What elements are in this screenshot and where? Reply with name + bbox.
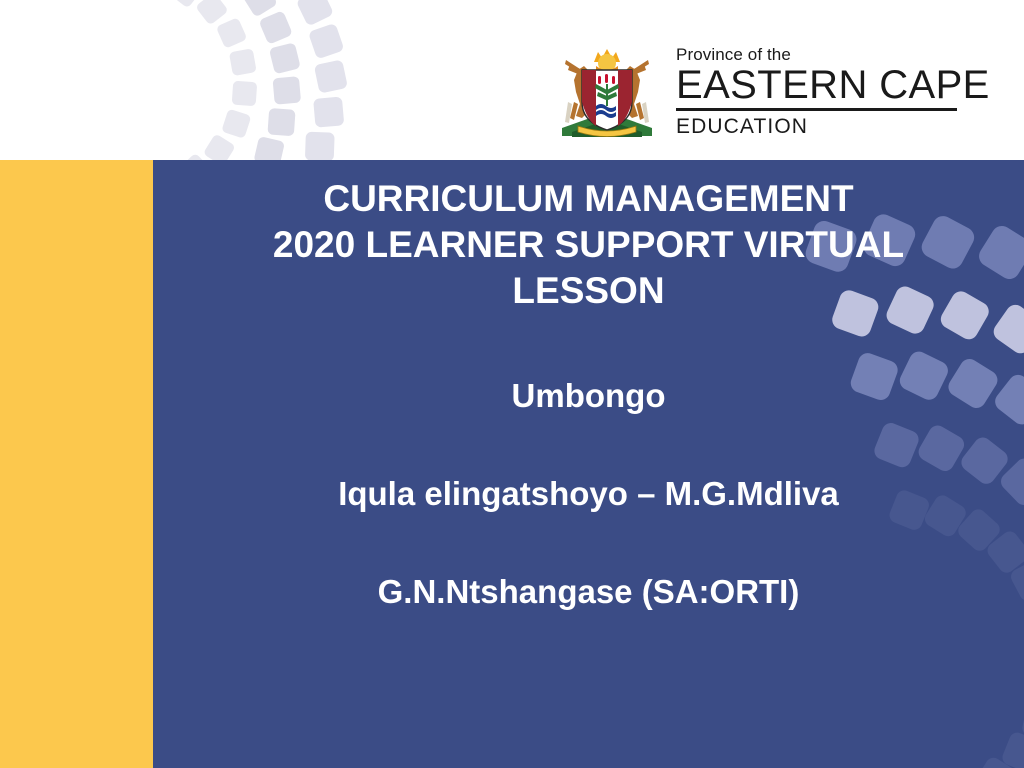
spacer-3 <box>153 514 1024 572</box>
eastern-cape-coat-of-arms-icon <box>548 40 666 144</box>
subtitle-line-topic: Umbongo <box>153 376 1024 416</box>
slide-header-band: Province of the EASTERN CAPE EDUCATION <box>0 0 1024 160</box>
spacer-1 <box>153 314 1024 376</box>
title-line-1: CURRICULUM MANAGEMENT <box>153 176 1024 222</box>
title-line-3: LESSON <box>153 268 1024 314</box>
logo-line-eastern-cape: EASTERN CAPE <box>676 64 990 107</box>
province-logo: Province of the EASTERN CAPE EDUCATION <box>548 38 960 146</box>
presentation-slide: Province of the EASTERN CAPE EDUCATION C… <box>0 0 1024 768</box>
logo-divider-rule <box>676 108 957 111</box>
yellow-accent-band <box>0 160 153 768</box>
radial-tile-pattern-light <box>0 0 360 160</box>
logo-line-province: Province of the <box>676 45 990 64</box>
spacer-2 <box>153 416 1024 474</box>
slide-text-content: CURRICULUM MANAGEMENT 2020 LEARNER SUPPO… <box>153 160 1024 768</box>
subtitle-line-presenter-1: Iqula elingatshoyo – M.G.Mdliva <box>153 474 1024 514</box>
logo-wordmark: Province of the EASTERN CAPE EDUCATION <box>676 45 990 139</box>
subtitle-line-presenter-2: G.N.Ntshangase (SA:ORTI) <box>153 572 1024 612</box>
slide-title: CURRICULUM MANAGEMENT 2020 LEARNER SUPPO… <box>153 160 1024 314</box>
logo-line-education: EDUCATION <box>676 114 990 139</box>
title-line-2: 2020 LEARNER SUPPORT VIRTUAL <box>153 222 1024 268</box>
